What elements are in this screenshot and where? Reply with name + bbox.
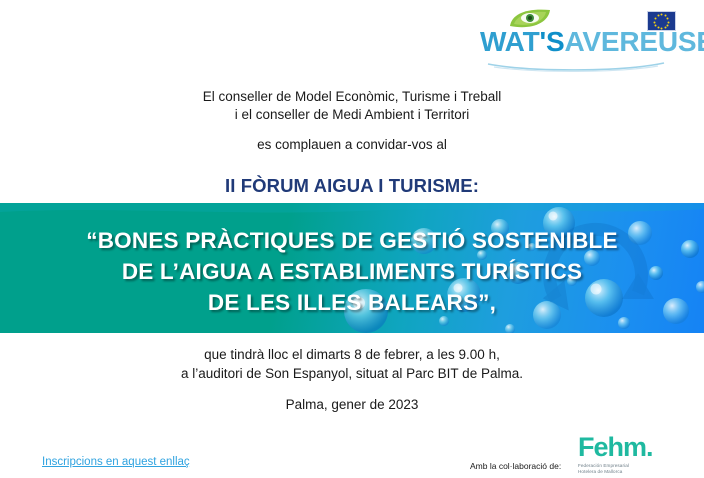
event-banner: “BONES PRÀCTIQUES DE GESTIÓ SOSTENIBLE D… [0,203,704,333]
logo-swoosh-icon [486,60,666,72]
event-details: que tindrà lloc el dimarts 8 de febrer, … [0,345,704,414]
registration-link[interactable]: Inscripcions en aquest enllaç [42,456,190,468]
banner-line-3: DE LES ILLES BALEARS”, [208,289,496,317]
watsavereuse-logo: WAT'SAVEREUSE [480,8,676,74]
intro-text: El conseller de Model Econòmic, Turisme … [0,88,704,154]
eu-flag-icon [647,11,676,31]
details-spacer [0,383,704,395]
logo-word-drop: 'S [540,26,565,57]
logo-word-part1: WAT [480,26,540,57]
logo-word-part2: AVEREUSE [564,26,704,57]
fehm-wordmark: Fehm. [578,434,670,461]
intro-spacer [0,124,704,136]
intro-line-1: El conseller de Model Econòmic, Turisme … [0,88,704,106]
header: WAT'SAVEREUSE [0,0,704,80]
banner-line-2: DE L’AIGUA A ESTABLIMENTS TURÍSTICS [122,258,582,286]
details-line-3: Palma, gener de 2023 [0,395,704,414]
logo-wordmark: WAT'SAVEREUSE [480,26,656,58]
fehm-subtitle-line-2: Hotelera de Mallorca [578,469,670,475]
forum-title: II FÒRUM AIGUA I TURISME: [0,175,704,197]
banner-text: “BONES PRÀCTIQUES DE GESTIÓ SOSTENIBLE D… [0,203,704,333]
details-line-1: que tindrà lloc el dimarts 8 de febrer, … [0,345,704,364]
intro-line-2: i el conseller de Medi Ambient i Territo… [0,106,704,124]
collaboration-label: Amb la col·laboració de: [470,461,561,471]
banner-line-1: “BONES PRÀCTIQUES DE GESTIÓ SOSTENIBLE [86,227,617,255]
fehm-logo: Fehm. Federación Empresarial Hotelera de… [578,434,670,476]
fehm-subtitle: Federación Empresarial Hotelera de Mallo… [578,463,670,475]
intro-line-3: es complauen a convidar-vos al [257,137,447,152]
details-line-2: a l’auditori de Son Espanyol, situat al … [0,364,704,383]
